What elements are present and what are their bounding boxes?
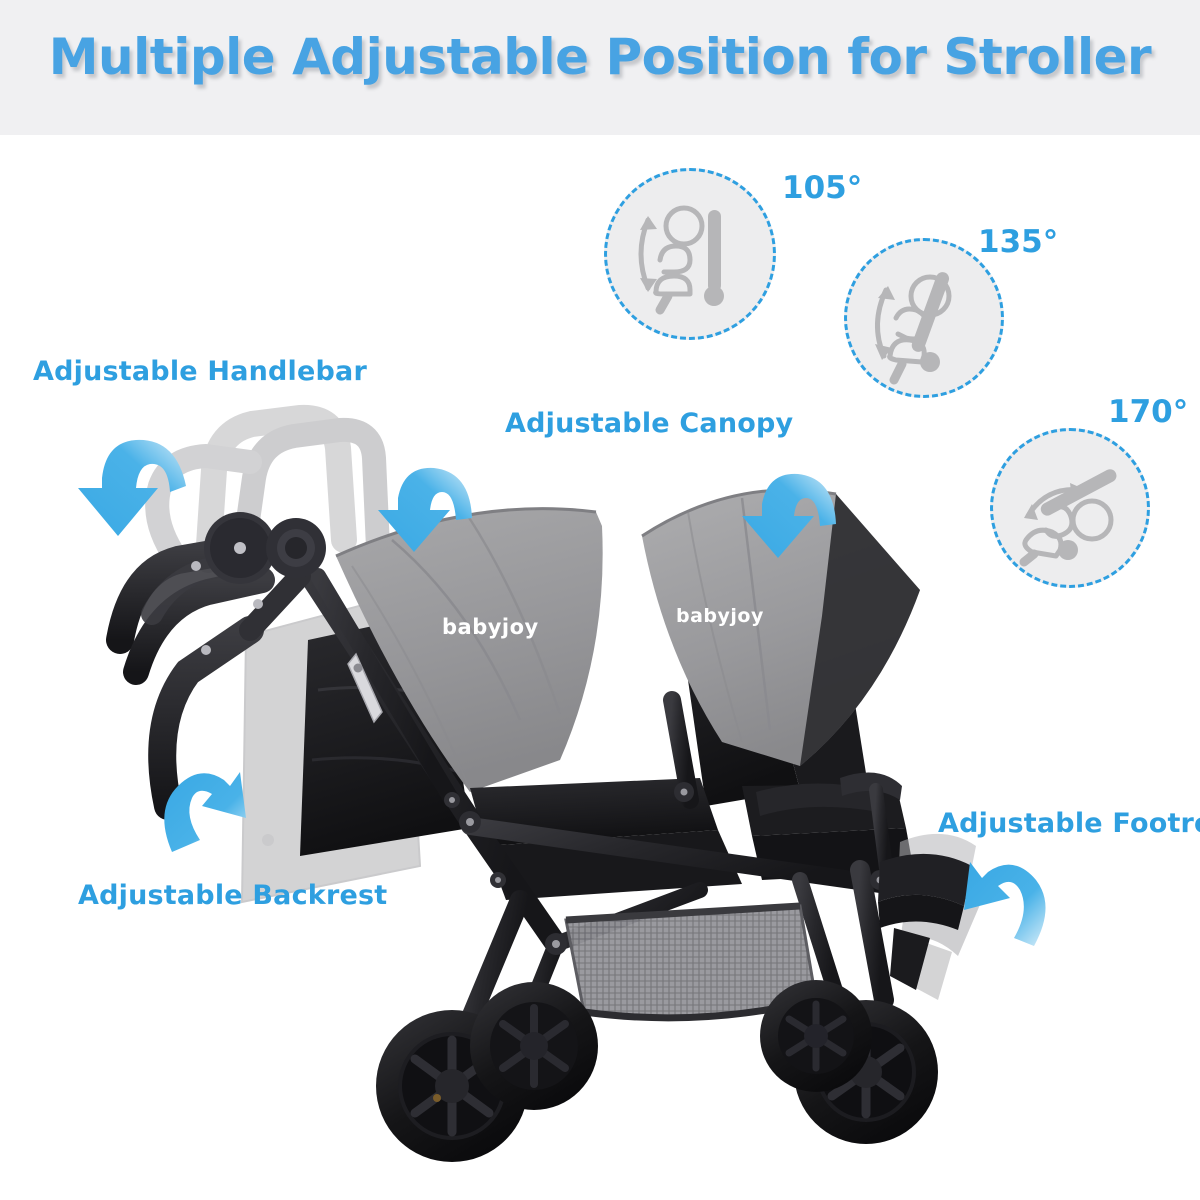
label-adjustable-footrest: Adjustable Footrest [938,808,1200,839]
label-adjustable-handlebar: Adjustable Handlebar [33,356,367,387]
handlebar-ghost-positions [157,418,378,560]
wheel-front-right [794,1000,938,1144]
badge-135[interactable]: 135° [844,238,1094,408]
canopy-rear-logo: babyjoy [442,615,539,639]
curved-arrow-canopy-rear-icon [378,468,472,552]
curved-arrow-canopy-front-icon [742,474,836,558]
curved-arrow-handlebar-icon [78,440,186,536]
wheel-rear-right [470,982,598,1110]
badge-105[interactable]: 105° [604,168,864,348]
wheel-rear-left [376,1010,528,1162]
seat-recline-upright-icon [604,168,776,340]
canopy-adjust-lever [348,654,382,722]
curved-arrow-footrest-icon [964,862,1046,946]
badge-135-label: 135° [978,224,1058,260]
badge-170-label: 170° [1108,394,1188,430]
stroller-illustration: babyjoy babyjoy [0,0,1200,1200]
footrest [878,854,972,990]
backrest-ghost-position [242,594,420,902]
badge-170[interactable]: 170° [990,428,1200,598]
page-title: Multiple Adjustable Position for Strolle… [0,28,1200,86]
rear-backrest [300,612,470,856]
handlebar [120,548,300,806]
seat-recline-flat-icon [990,428,1150,588]
canopy-front: babyjoy [642,490,920,766]
wheel-front-left [760,980,872,1092]
frame-joints [444,782,890,1008]
label-adjustable-backrest: Adjustable Backrest [78,880,387,911]
canopy-front-logo: babyjoy [676,605,764,627]
footrest-ghost-positions [898,834,982,1000]
annotation-arrows [0,0,1200,1200]
canopy-rear: babyjoy [336,509,603,792]
storage-basket [566,906,816,1018]
seat-base [470,773,914,900]
handlebar-pivot-joint [204,512,326,584]
stroller-frame [300,560,888,1034]
label-adjustable-canopy: Adjustable Canopy [505,408,793,439]
badge-105-label: 105° [782,170,862,206]
seat-recline-mid-icon [844,238,1004,398]
curved-arrow-backrest-icon [164,772,246,852]
front-backrest [676,566,868,806]
infographic-page: Multiple Adjustable Position for Strolle… [0,0,1200,1200]
